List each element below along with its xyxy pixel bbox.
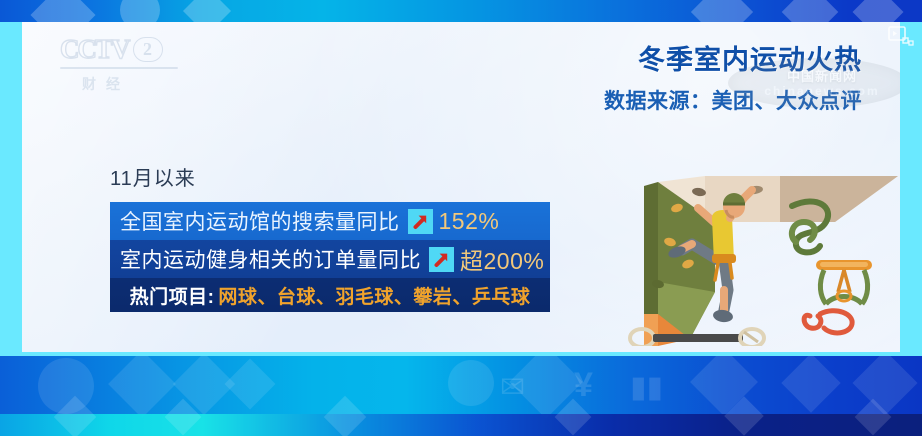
stat-bar-value: 超200%	[460, 242, 544, 276]
carabiner-red-left	[804, 315, 821, 328]
hot-items-bar: 热门项目: 网球、台球、羽毛球、攀岩、乒乓球	[110, 278, 550, 312]
carabiner-red-right	[820, 311, 852, 333]
page-title: 冬季室内运动火热	[604, 38, 862, 77]
banner-shape	[120, 0, 160, 22]
climber-harness	[712, 254, 736, 263]
banner-shape	[782, 0, 839, 22]
right-cyan-rail	[900, 22, 922, 352]
cctv-logo: CCTV 2 财经	[60, 34, 190, 106]
stat-bar-search-volume: 全国室内运动馆的搜索量同比 152%	[110, 202, 550, 240]
banner-shape	[448, 360, 494, 406]
bar-chart-icon: ▮▮	[630, 370, 663, 405]
banner-shape	[853, 0, 904, 22]
stat-bar-label: 室内运动健身相关的订单量同比	[120, 244, 421, 274]
harness-belt-highlight	[820, 262, 868, 267]
up-right-arrow-icon	[429, 247, 454, 272]
broadcast-graphic: CCTV 2 财经 冬季室内运动火热 数据来源：美团、大众点评 中国新闻网 ch…	[0, 0, 922, 436]
data-source-subtitle: 数据来源：美团、大众点评	[604, 85, 862, 115]
stat-bar-stack: 全国室内运动馆的搜索量同比 152% 室内运动健身相关的订单量同比	[110, 202, 550, 312]
quickdraw-sling	[653, 334, 743, 342]
screen-share-icon[interactable]	[888, 26, 914, 48]
cctv-logo-number: 2	[133, 37, 163, 62]
strip-shape	[324, 396, 366, 436]
up-right-arrow-icon	[408, 209, 433, 234]
climber-right-shoe	[712, 309, 733, 324]
left-cyan-rail	[0, 22, 22, 352]
overhang-panel-dark	[780, 176, 898, 222]
banner-bottom-strip	[0, 414, 922, 436]
headline-block: 冬季室内运动火热 数据来源：美团、大众点评	[604, 38, 862, 115]
hot-items-list: 网球、台球、羽毛球、攀岩、乒乓球	[218, 282, 530, 309]
since-label: 11月以来	[110, 162, 196, 191]
banner-shape	[108, 352, 176, 418]
envelope-icon: ✉	[500, 370, 525, 405]
banner-shape	[781, 353, 840, 412]
cctv-logo-underline	[60, 67, 178, 69]
banner-shape	[30, 0, 95, 22]
stat-bar-value: 152%	[439, 208, 500, 235]
harness-belay-loop	[838, 270, 850, 292]
hot-items-label: 热门项目:	[130, 282, 215, 309]
cctv-logo-text: CCTV	[60, 34, 129, 65]
top-decorative-banner	[0, 0, 922, 22]
banner-shape	[225, 359, 276, 410]
banner-shape	[691, 0, 753, 22]
banner-shape	[183, 0, 231, 22]
banner-cyan-cap	[0, 352, 922, 356]
quickdraw-gate	[744, 332, 758, 342]
banner-shape	[852, 352, 917, 416]
yen-currency-icon: ¥	[574, 366, 593, 405]
main-stage: CCTV 2 财经 冬季室内运动火热 数据来源：美团、大众点评 中国新闻网 ch…	[22, 22, 900, 352]
rock-climbing-illustration	[620, 164, 898, 346]
stat-bar-label: 全国室内运动馆的搜索量同比	[120, 206, 400, 236]
stat-bar-order-volume: 室内运动健身相关的订单量同比 超200%	[110, 240, 550, 278]
cctv-logo-subtitle: 财经	[82, 74, 190, 94]
bottom-decorative-banner: ¥ ▮▮ ✉	[0, 352, 922, 436]
